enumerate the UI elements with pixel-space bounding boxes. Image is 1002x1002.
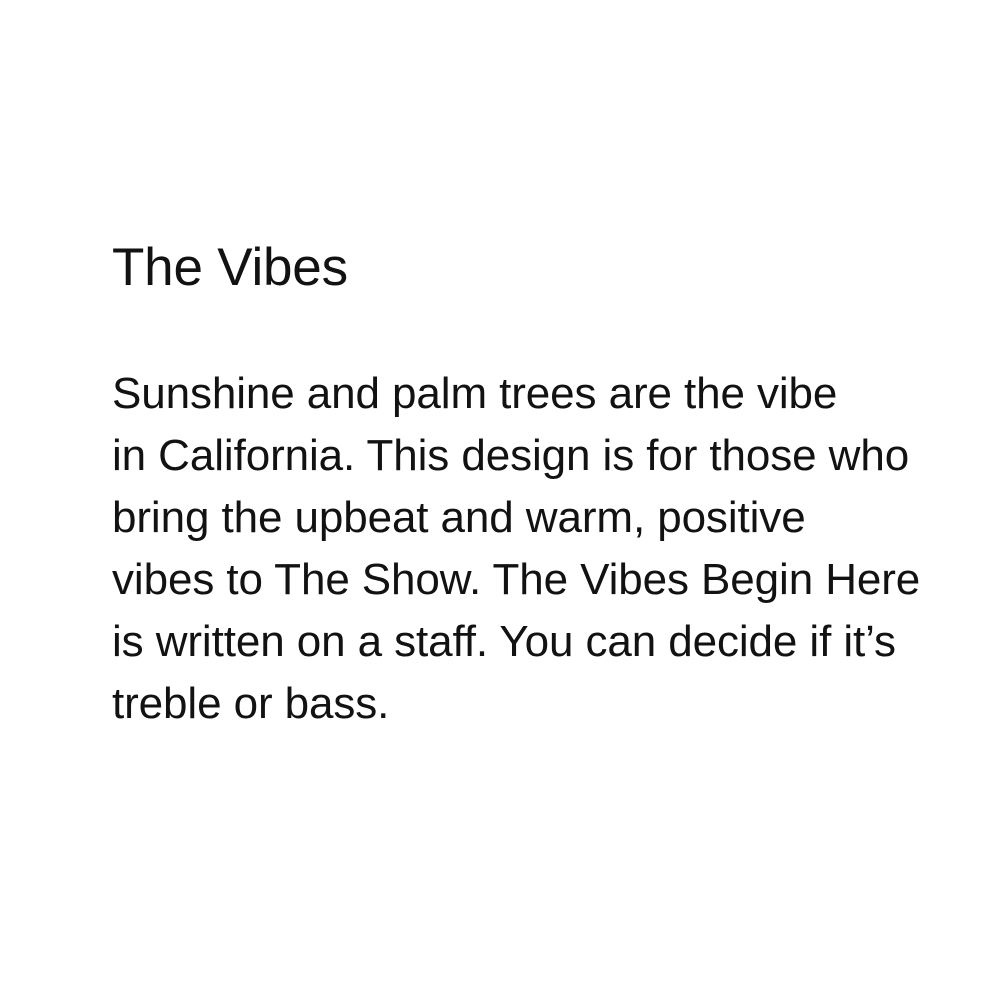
page-canvas: The Vibes Sunshine and palm trees are th… [0,0,1002,1002]
title-body-spacer [112,297,912,363]
product-description-block: The Vibes Sunshine and palm trees are th… [112,238,912,735]
description-line: is written on a staff. You can decide if… [112,611,912,673]
page-title: The Vibes [112,238,912,297]
description-line: vibes to The Show. The Vibes Begin Here [112,549,912,611]
description-line: in California. This design is for those … [112,425,912,487]
product-description-text: Sunshine and palm trees are the vibe in … [112,363,912,735]
description-line: Sunshine and palm trees are the vibe [112,363,912,425]
description-line: bring the upbeat and warm, positive [112,487,912,549]
description-line: treble or bass. [112,673,912,735]
